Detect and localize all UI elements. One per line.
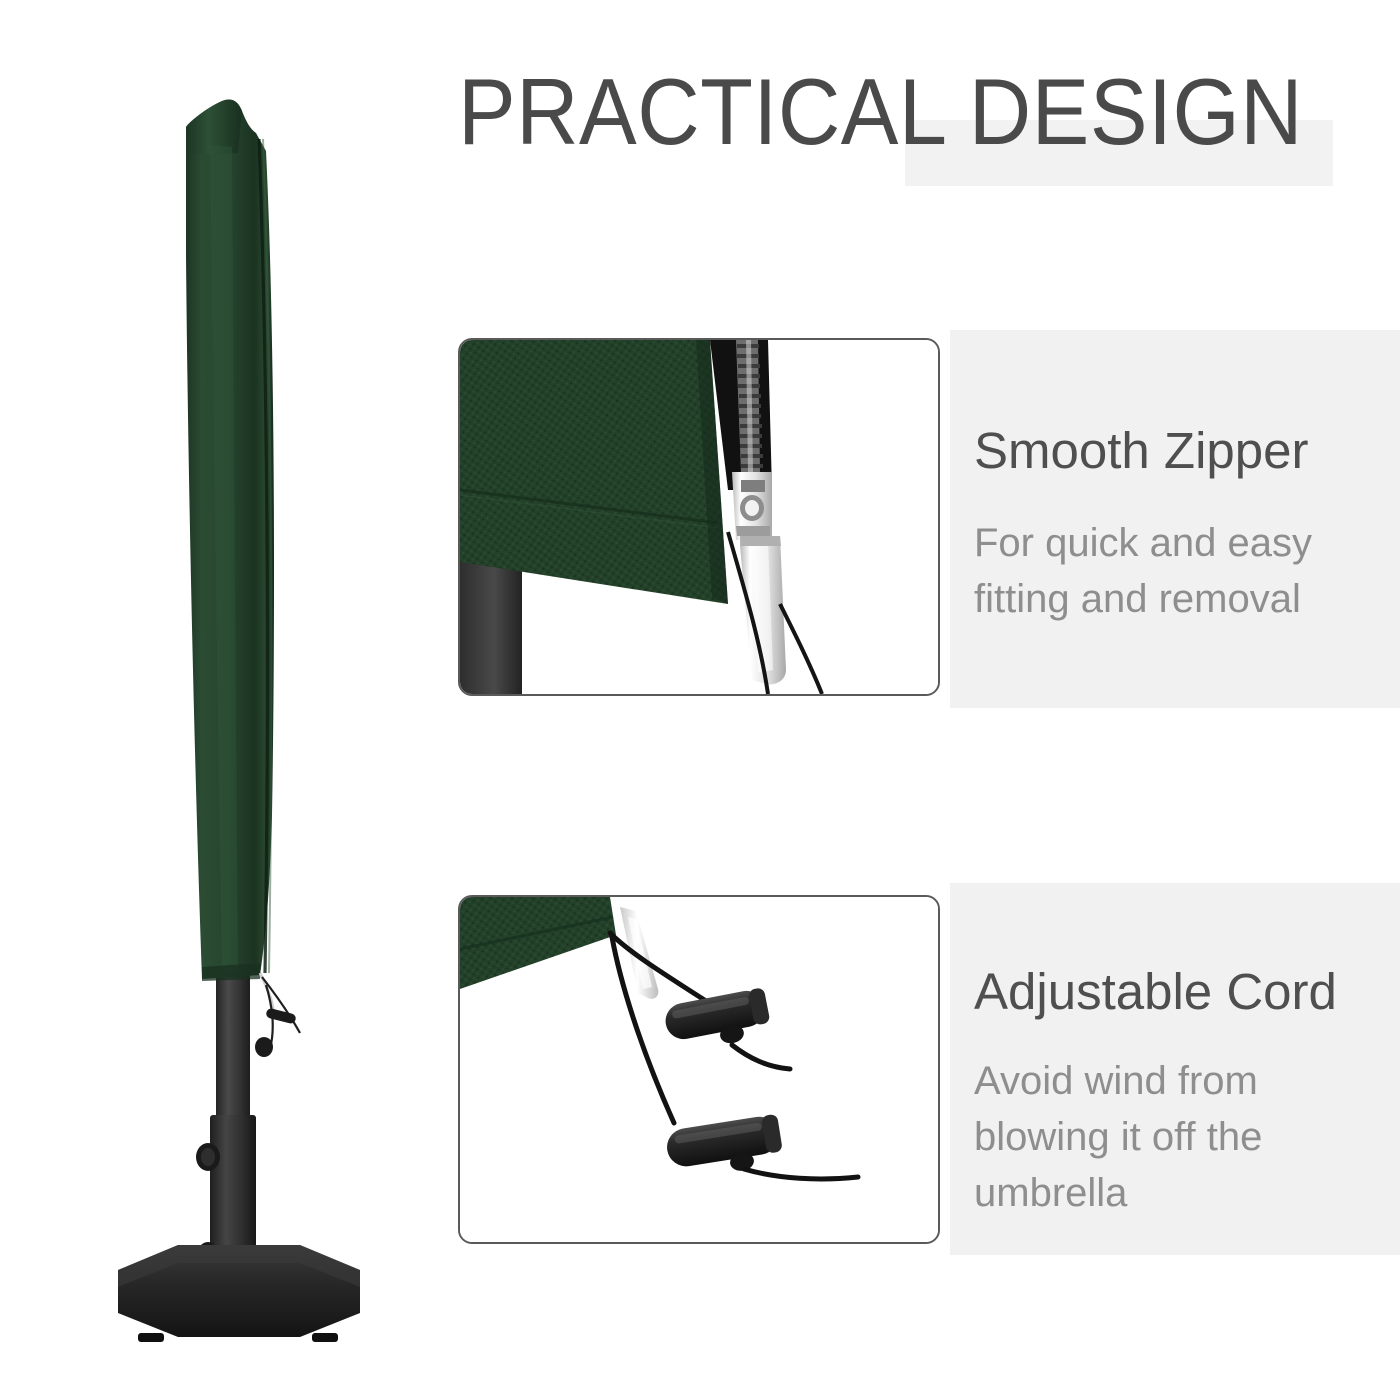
hero-product-image <box>60 55 420 1345</box>
feature-body-line: fitting and removal <box>974 571 1390 627</box>
adjustable-cord-text-panel: Adjustable Cord Avoid wind from blowing … <box>950 883 1400 1255</box>
feature-body-smooth-zipper: For quick and easy fitting and removal <box>974 515 1390 627</box>
adjustable-cord-photo-illustration <box>460 897 938 1242</box>
parasol-pole <box>196 935 256 1268</box>
feature-heading-adjustable-cord: Adjustable Cord <box>974 963 1337 1021</box>
feature-body-line: umbrella <box>974 1165 1390 1221</box>
feature-body-adjustable-cord: Avoid wind from blowing it off the umbre… <box>974 1053 1390 1221</box>
feature-body-line: Avoid wind from <box>974 1053 1390 1109</box>
cord-toggle-small <box>255 1008 297 1057</box>
zipper-closeup-photo <box>458 338 940 696</box>
adjustable-cord-closeup-photo <box>458 895 940 1244</box>
umbrella-cover-illustration <box>60 55 420 1345</box>
smooth-zipper-text-panel: Smooth Zipper For quick and easy fitting… <box>950 330 1400 708</box>
pole-knob-upper <box>196 1143 220 1171</box>
zipper-slider <box>732 472 772 540</box>
parasol-base <box>118 1245 360 1342</box>
feature-body-line: blowing it off the <box>974 1109 1390 1165</box>
feature-heading-smooth-zipper: Smooth Zipper <box>974 422 1309 480</box>
umbrella-cover-sleeve <box>186 99 274 981</box>
zipper-photo-illustration <box>460 340 938 694</box>
page-title: PRACTICAL DESIGN <box>458 62 1303 162</box>
green-fabric <box>460 340 728 604</box>
feature-body-line: For quick and easy <box>974 515 1390 571</box>
